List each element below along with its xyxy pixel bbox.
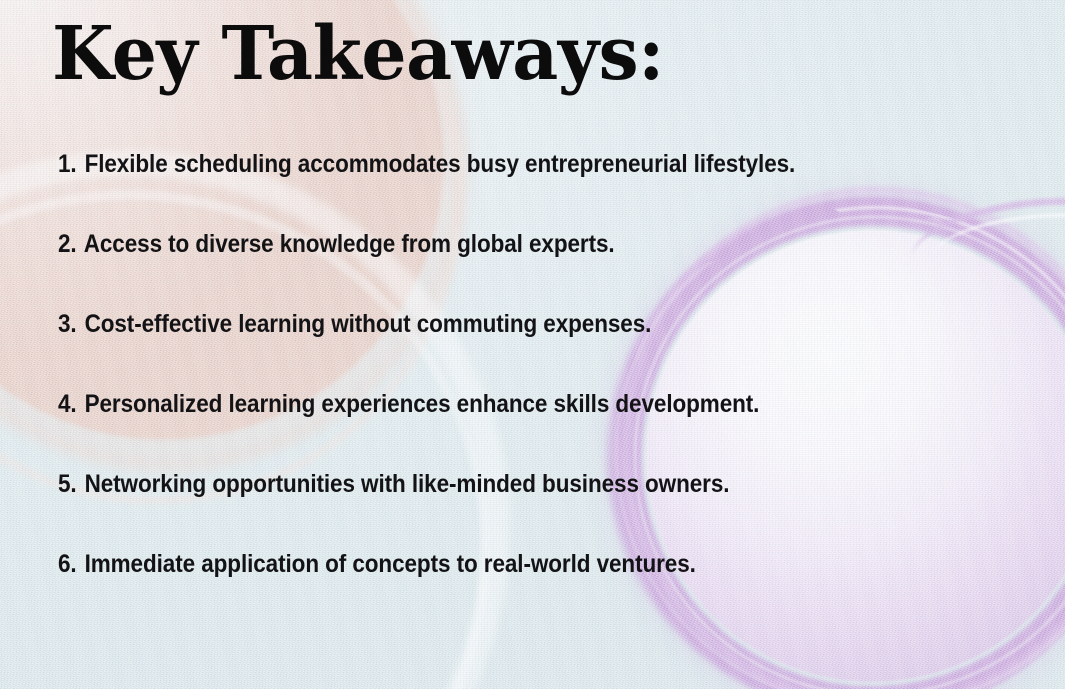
list-item-number: 3. (58, 310, 77, 338)
list-item-number: 4. (58, 390, 77, 418)
list-item-number: 6. (58, 550, 77, 578)
list-item: 3. Cost-effective learning without commu… (58, 312, 913, 392)
list-item-text: Immediate application of concepts to rea… (85, 550, 696, 578)
slide-canvas: Key Takeaways: 1. Flexible scheduling ac… (0, 0, 1065, 689)
list-item-text: Cost-effective learning without commutin… (85, 310, 652, 338)
list-item: 4. Personalized learning experiences enh… (58, 392, 913, 472)
page-title: Key Takeaways: (52, 17, 664, 91)
list-item: 6. Immediate application of concepts to … (58, 552, 913, 632)
list-item-text: Personalized learning experiences enhanc… (85, 390, 760, 418)
list-item-text: Access to diverse knowledge from global … (84, 230, 615, 258)
list-item-text: Flexible scheduling accommodates busy en… (85, 150, 796, 178)
list-item: 5. Networking opportunities with like-mi… (58, 472, 913, 552)
list-item: 2. Access to diverse knowledge from glob… (58, 232, 913, 312)
list-item-number: 5. (58, 470, 77, 498)
list-item-text: Networking opportunities with like-minde… (85, 470, 730, 498)
slide-content: Key Takeaways: 1. Flexible scheduling ac… (0, 0, 1065, 689)
list-item: 1. Flexible scheduling accommodates busy… (58, 152, 913, 232)
takeaway-list: 1. Flexible scheduling accommodates busy… (58, 152, 1008, 632)
list-item-number: 1. (58, 150, 77, 178)
list-item-number: 2. (58, 230, 77, 258)
